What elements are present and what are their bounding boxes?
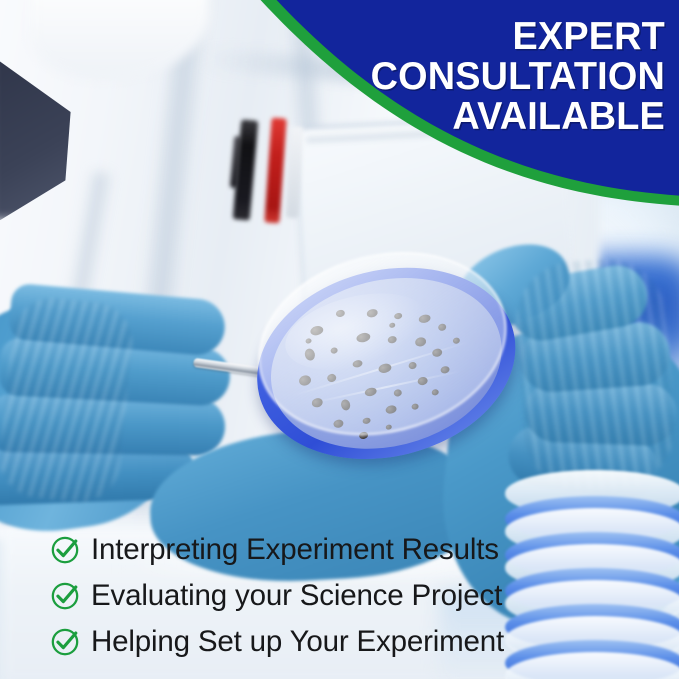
circle-check-icon	[50, 535, 80, 565]
circle-check-icon	[50, 627, 80, 657]
list-item-label: Evaluating your Science Project	[91, 579, 502, 613]
list-item-label: Interpreting Experiment Results	[91, 533, 499, 567]
banner-line-2: CONSULTATION	[277, 57, 665, 97]
banner-line-3: AVAILABLE	[277, 97, 665, 137]
banner-headline: EXPERT CONSULTATION AVAILABLE	[265, 17, 665, 137]
circle-check-icon	[50, 581, 80, 611]
benefits-list: Interpreting Experiment Results Evaluati…	[50, 528, 650, 666]
right-glove-texture	[512, 255, 678, 495]
expert-consultation-banner: EXPERT CONSULTATION AVAILABLE	[249, 0, 679, 215]
poster-canvas: EXPERT CONSULTATION AVAILABLE Interpreti…	[0, 0, 679, 679]
list-item: Helping Set up Your Experiment	[50, 620, 650, 664]
list-item: Evaluating your Science Project	[50, 574, 650, 618]
left-glove-texture	[0, 294, 136, 505]
list-item-label: Helping Set up Your Experiment	[91, 625, 504, 659]
banner-line-1: EXPERT	[277, 17, 665, 57]
list-item: Interpreting Experiment Results	[50, 528, 650, 572]
